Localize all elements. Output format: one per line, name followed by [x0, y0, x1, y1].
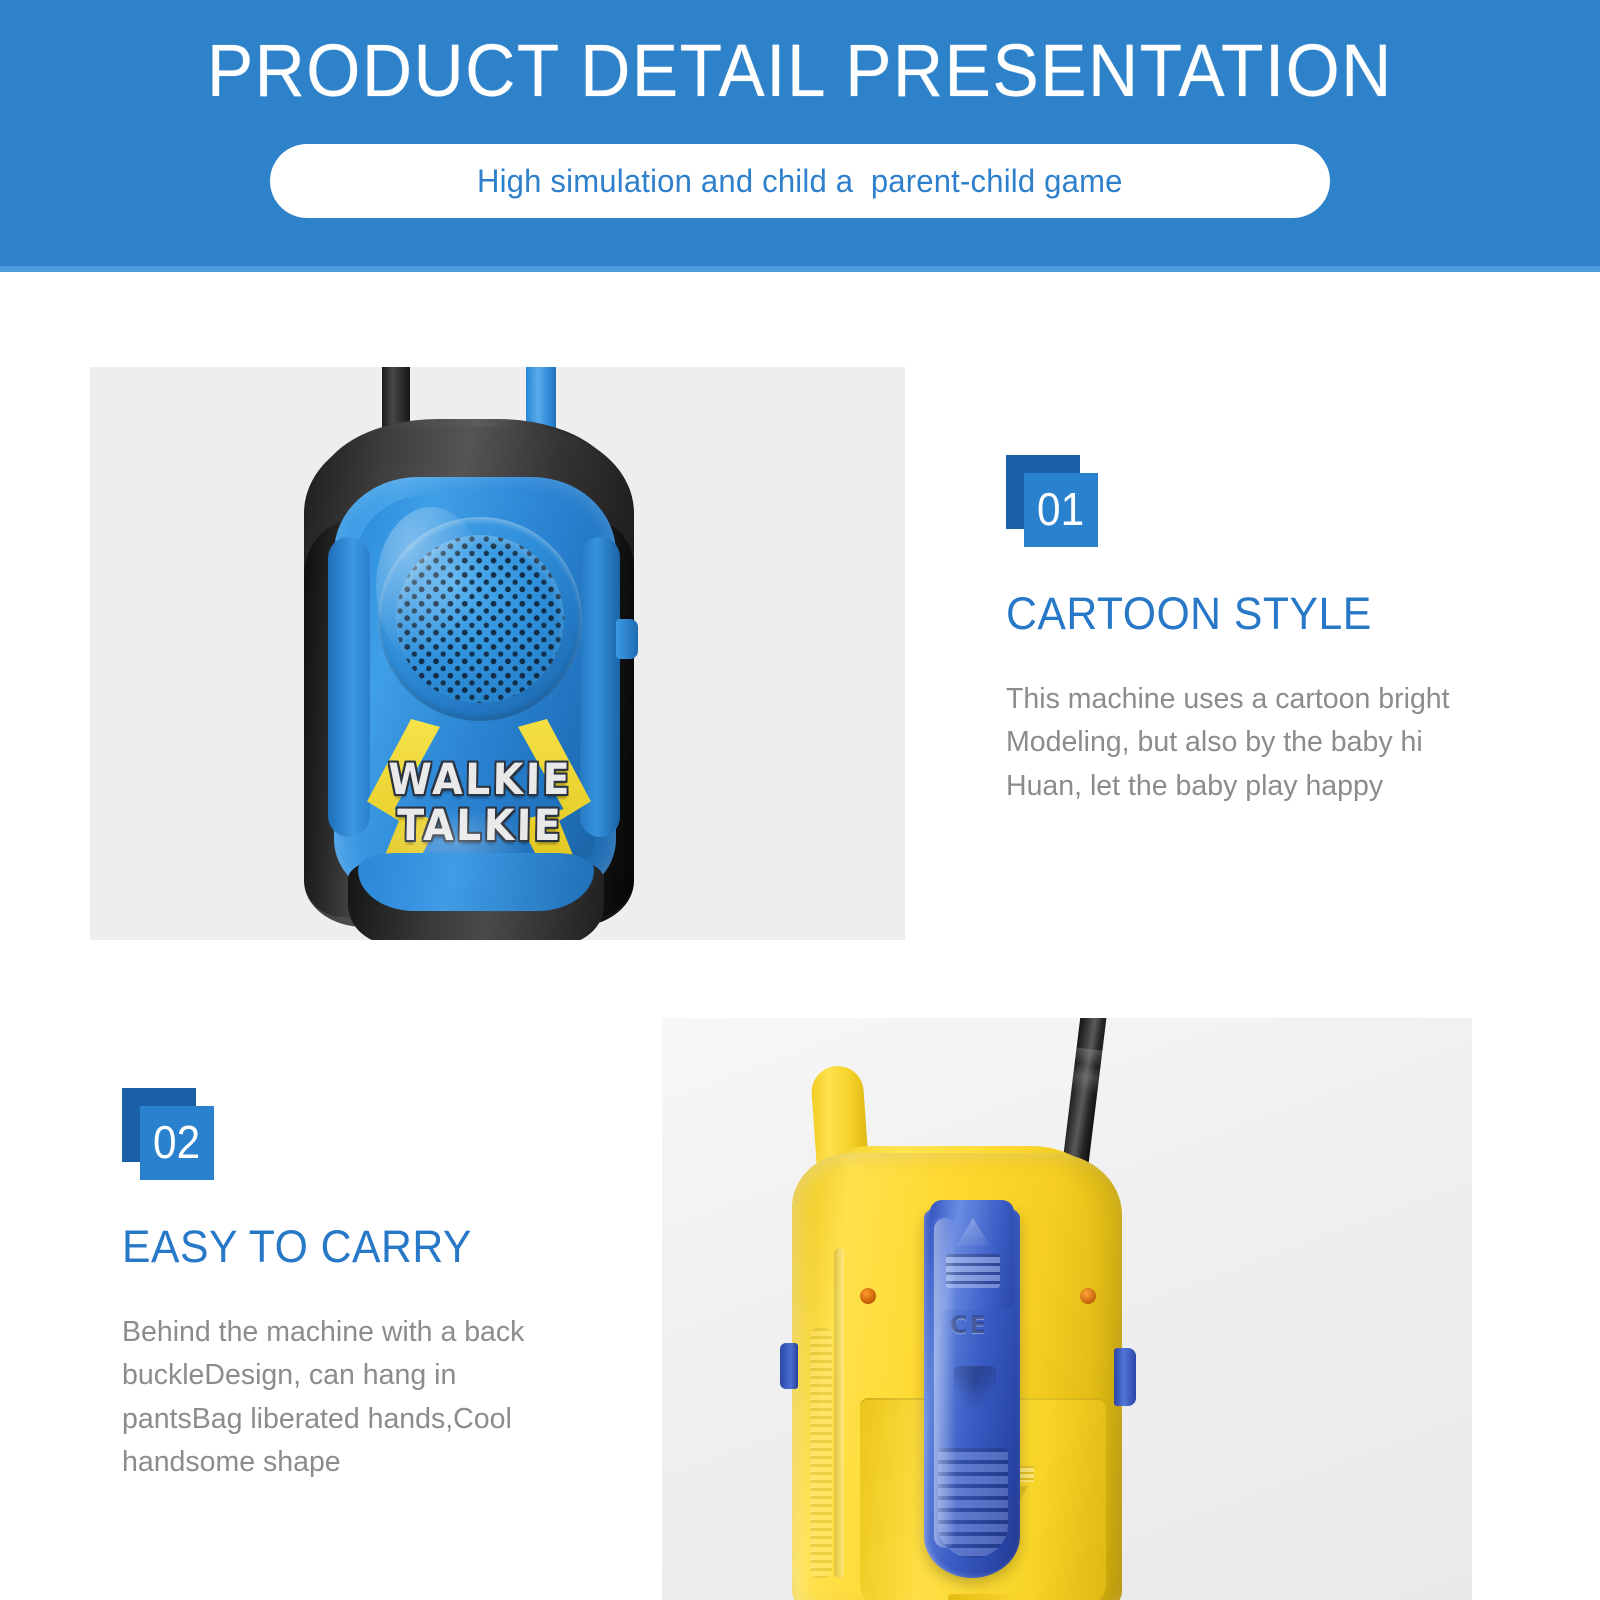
speaker-grille	[396, 535, 564, 703]
photo-scene: WALKIE TALKIE	[90, 367, 905, 940]
subtitle-pill: High simulation and child a parent-child…	[270, 144, 1330, 218]
badge-square-front: 01	[1024, 473, 1098, 547]
speaker-dots-pattern-offset	[396, 535, 564, 703]
device-bottom-tab	[948, 1594, 1010, 1600]
page-header: PRODUCT DETAIL PRESENTATION High simulat…	[0, 0, 1600, 272]
photo-scene: CE	[662, 1018, 1472, 1600]
brand-logo-line-1: WALKIE	[367, 759, 592, 801]
subtitle-text: High simulation and child a parent-child…	[477, 163, 1123, 200]
badge-number: 02	[153, 1119, 200, 1165]
side-button-right	[1114, 1348, 1136, 1406]
section-number-badge-01: 01	[1006, 455, 1098, 547]
section-heading-01: CARTOON STYLE	[1006, 591, 1453, 636]
section-number-badge-02: 02	[122, 1088, 214, 1180]
belt-clip-emboss-mark	[954, 1366, 996, 1418]
side-button-left	[780, 1343, 798, 1389]
product-photo-blue-walkie-talkie: WALKIE TALKIE	[90, 367, 905, 940]
antenna-segment-highlight	[1070, 1048, 1102, 1105]
section-body-02: Behind the machine with a back buckleDes…	[122, 1311, 552, 1484]
feature-section-01: 01 CARTOON STYLE This machine uses a car…	[1006, 455, 1476, 808]
badge-number: 01	[1037, 486, 1084, 532]
belt-clip-gloss	[934, 1218, 956, 1548]
screw-right-icon	[1080, 1288, 1096, 1304]
section-heading-02: EASY TO CARRY	[122, 1224, 569, 1269]
side-knob-icon	[616, 619, 638, 659]
device-bottom-blue-trim	[358, 853, 594, 911]
product-photo-yellow-walkie-talkie: CE	[662, 1018, 1472, 1600]
body-ridges-left	[810, 1328, 832, 1578]
ce-mark-label: CE	[950, 1310, 1002, 1340]
body-groove-left	[834, 1248, 844, 1578]
screw-left-icon	[860, 1288, 876, 1304]
page-title: PRODUCT DETAIL PRESENTATION	[207, 34, 1393, 108]
badge-square-front: 02	[140, 1106, 214, 1180]
section-body-01: This machine uses a cartoon bright Model…	[1006, 678, 1466, 808]
feature-section-02: 02 EASY TO CARRY Behind the machine with…	[122, 1088, 592, 1484]
